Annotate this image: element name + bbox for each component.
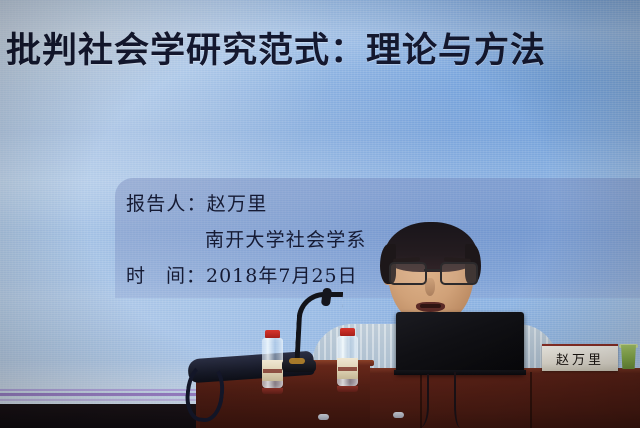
bottle-neck — [393, 412, 404, 418]
bottle-cap-icon — [340, 328, 355, 336]
bottle-body — [262, 338, 283, 388]
bottle-label-stripe — [263, 369, 282, 373]
bottle-label-stripe — [338, 367, 357, 371]
bottle-label — [337, 358, 358, 379]
paper-cup — [620, 345, 637, 369]
water-bottle-left — [262, 330, 283, 394]
mouth-opening — [420, 304, 441, 308]
nameplate-text: 赵万里 — [556, 349, 604, 368]
cable-left — [405, 374, 429, 428]
slide-line-affiliation: 南开大学社会学系 — [126, 222, 367, 258]
laptop-lid — [396, 312, 524, 374]
slide-body-text: 报告人：赵万里 南开大学社会学系 时 间：2018年7月25日 — [126, 186, 367, 294]
nose — [425, 278, 435, 296]
lecture-photograph: 批判社会学研究范式：理论与方法 报告人：赵万里 南开大学社会学系 时 间：201… — [0, 0, 640, 428]
microphone-ring — [289, 358, 305, 364]
bottle-base — [262, 388, 283, 394]
table-seam — [530, 372, 532, 428]
slide-title: 批判社会学研究范式：理论与方法 — [6, 22, 634, 73]
bottle-base — [337, 386, 358, 392]
cable-right — [454, 372, 470, 428]
bottle-label — [262, 360, 283, 381]
lens-left — [389, 262, 427, 285]
bottle-cap-icon — [265, 330, 280, 338]
nameplate: 赵万里 — [542, 344, 618, 371]
bottle-neck — [318, 414, 329, 420]
lens-right — [440, 262, 478, 285]
slide-line-speaker: 报告人：赵万里 — [126, 186, 367, 222]
glasses-bridge — [424, 269, 441, 271]
